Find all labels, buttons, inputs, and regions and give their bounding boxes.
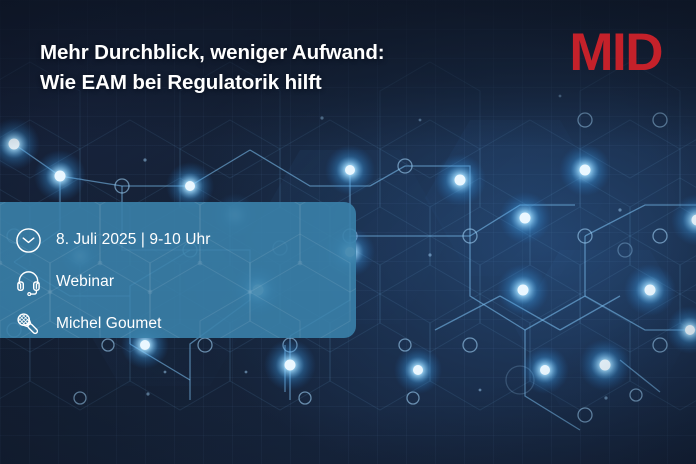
clock-icon bbox=[0, 227, 56, 254]
headline-line-2: Wie EAM bei Regulatorik hilft bbox=[40, 68, 510, 98]
info-row-speaker: Michel Goumet bbox=[0, 304, 356, 338]
mid-logo: MID bbox=[569, 26, 662, 79]
microphone-icon bbox=[0, 310, 56, 338]
info-row-speaker-label: Michel Goumet bbox=[56, 315, 162, 333]
info-row-format: Webinar bbox=[0, 262, 356, 302]
info-row-date-label: 8. Juli 2025 | 9-10 Uhr bbox=[56, 231, 211, 249]
info-row-date: 8. Juli 2025 | 9-10 Uhr bbox=[0, 220, 356, 260]
webinar-banner: Mehr Durchblick, weniger Aufwand: Wie EA… bbox=[0, 0, 696, 464]
headset-icon bbox=[0, 269, 56, 296]
info-row-format-label: Webinar bbox=[56, 273, 114, 291]
page-title: Mehr Durchblick, weniger Aufwand: Wie EA… bbox=[40, 38, 510, 98]
headline-line-1: Mehr Durchblick, weniger Aufwand: bbox=[40, 41, 384, 64]
event-info-panel: 8. Juli 2025 | 9-10 Uhr Webinar bbox=[0, 202, 356, 338]
